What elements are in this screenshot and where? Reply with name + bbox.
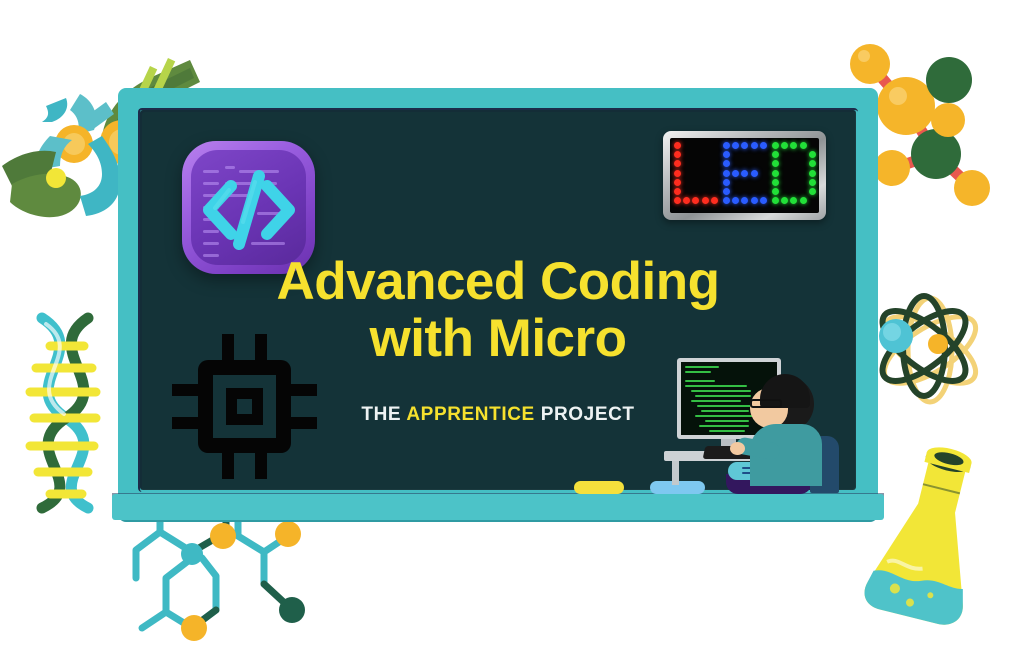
led-dot bbox=[772, 170, 779, 177]
led-dot bbox=[723, 151, 730, 158]
led-dot bbox=[683, 197, 690, 204]
led-dot bbox=[772, 188, 779, 195]
led-dot bbox=[800, 142, 807, 149]
led-dot bbox=[674, 160, 681, 167]
title-line-2: with Micro bbox=[118, 310, 878, 367]
led-dot bbox=[741, 197, 748, 204]
chalk-yellow bbox=[574, 481, 624, 494]
led-dot bbox=[760, 197, 767, 204]
led-dot bbox=[772, 142, 779, 149]
code-line bbox=[685, 380, 715, 382]
led-dot bbox=[760, 142, 767, 149]
led-dot bbox=[711, 197, 718, 204]
led-dot bbox=[751, 142, 758, 149]
page-title: Advanced Coding with Micro bbox=[118, 253, 878, 367]
led-dot bbox=[772, 160, 779, 167]
brand-name: THE APPRENTICE PROJECT bbox=[118, 404, 878, 426]
led-dot bbox=[732, 170, 739, 177]
led-dot bbox=[772, 197, 779, 204]
poster-canvas: Advanced Coding with Micro THE APPRENTIC… bbox=[0, 0, 1024, 668]
led-dot bbox=[809, 151, 816, 158]
led-dot bbox=[723, 170, 730, 177]
led-dot bbox=[809, 179, 816, 186]
led-dot bbox=[674, 170, 681, 177]
led-dot bbox=[732, 197, 739, 204]
brand-highlight: APPRENTICE bbox=[406, 404, 534, 425]
code-line bbox=[691, 400, 741, 402]
led-dot bbox=[751, 197, 758, 204]
code-line bbox=[685, 371, 711, 373]
led-dot bbox=[723, 179, 730, 186]
led-dot bbox=[772, 179, 779, 186]
led-dot bbox=[781, 142, 788, 149]
title-line-1: Advanced Coding bbox=[118, 253, 878, 310]
code-line bbox=[685, 385, 747, 387]
led-dot bbox=[790, 197, 797, 204]
brand-suffix: PROJECT bbox=[535, 404, 635, 425]
led-dot bbox=[674, 179, 681, 186]
led-screen bbox=[670, 138, 819, 213]
led-dot bbox=[790, 142, 797, 149]
led-dot bbox=[809, 188, 816, 195]
led-dot bbox=[674, 197, 681, 204]
led-dot bbox=[772, 151, 779, 158]
chemical-structure-icon bbox=[130, 500, 385, 668]
code-line bbox=[709, 430, 745, 432]
led-dot bbox=[732, 142, 739, 149]
desk-leg bbox=[672, 461, 679, 485]
led-dot bbox=[674, 188, 681, 195]
led-display bbox=[663, 131, 826, 220]
board-ledge bbox=[112, 494, 884, 520]
led-dot bbox=[781, 197, 788, 204]
led-dot bbox=[809, 160, 816, 167]
led-dot bbox=[741, 142, 748, 149]
person-hand bbox=[730, 442, 745, 455]
led-dot bbox=[723, 142, 730, 149]
led-dot bbox=[751, 170, 758, 177]
brand-prefix: THE bbox=[361, 404, 406, 425]
code-line bbox=[691, 390, 751, 392]
led-dot bbox=[741, 170, 748, 177]
atom-icon bbox=[864, 288, 1014, 418]
led-dot bbox=[692, 197, 699, 204]
led-dot bbox=[674, 151, 681, 158]
led-dot bbox=[809, 170, 816, 177]
dna-helix-icon bbox=[0, 306, 136, 516]
led-dot bbox=[723, 160, 730, 167]
led-dot bbox=[800, 197, 807, 204]
led-dot bbox=[723, 188, 730, 195]
led-dot bbox=[674, 142, 681, 149]
led-dot bbox=[702, 197, 709, 204]
code-line bbox=[695, 395, 751, 397]
code-icon-surface bbox=[191, 150, 306, 265]
led-dot bbox=[723, 197, 730, 204]
